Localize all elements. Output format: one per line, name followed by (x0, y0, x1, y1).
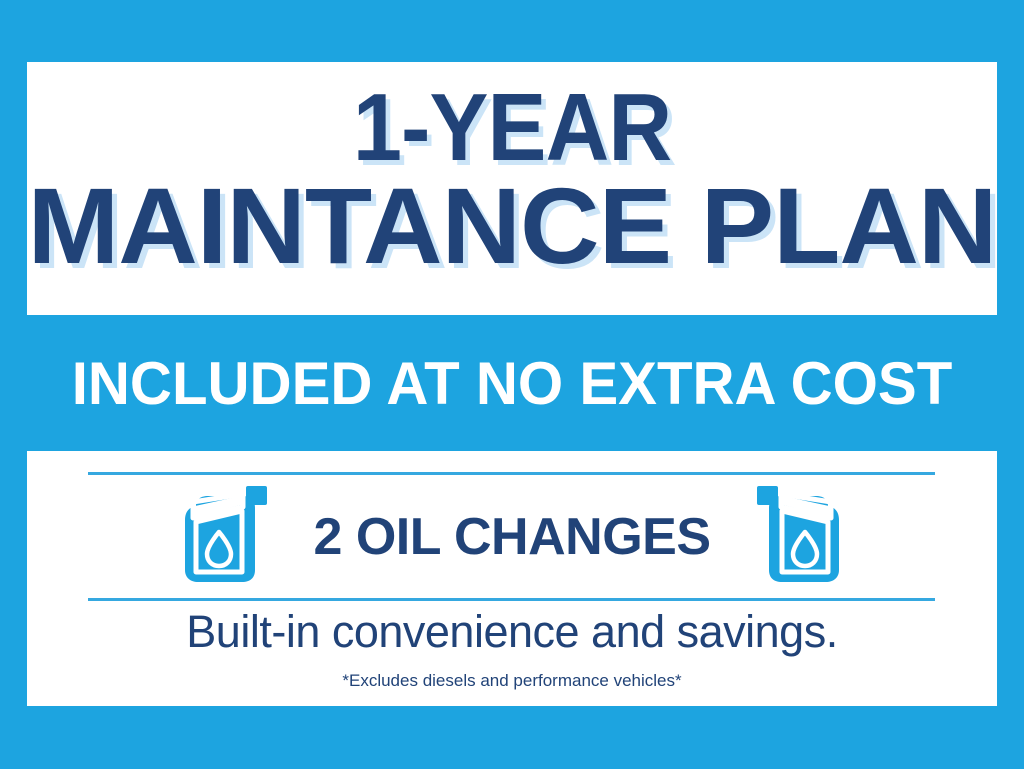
divider-top (88, 472, 935, 475)
oil-change-row: 2 OIL CHANGES (27, 479, 997, 595)
oil-changes-label: 2 OIL CHANGES (313, 507, 710, 567)
detail-card: 2 OIL CHANGES Built-in convenience and s… (27, 451, 997, 706)
oil-jug-icon (183, 484, 269, 591)
headline-line-2: MAINTANCE PLAN (28, 176, 997, 275)
headline-band: 1-YEAR MAINTANCE PLAN (27, 62, 997, 315)
fineprint-disclaimer: *Excludes diesels and performance vehicl… (27, 671, 997, 691)
subtitle-banner: INCLUDED AT NO EXTRA COST (15, 333, 1008, 433)
tagline: Built-in convenience and savings. (27, 606, 997, 658)
headline-line-1: 1-YEAR (353, 84, 671, 172)
divider-bottom (88, 598, 935, 601)
promo-poster: 1-YEAR MAINTANCE PLAN INCLUDED AT NO EXT… (0, 0, 1024, 769)
oil-jug-icon-right (755, 484, 841, 591)
